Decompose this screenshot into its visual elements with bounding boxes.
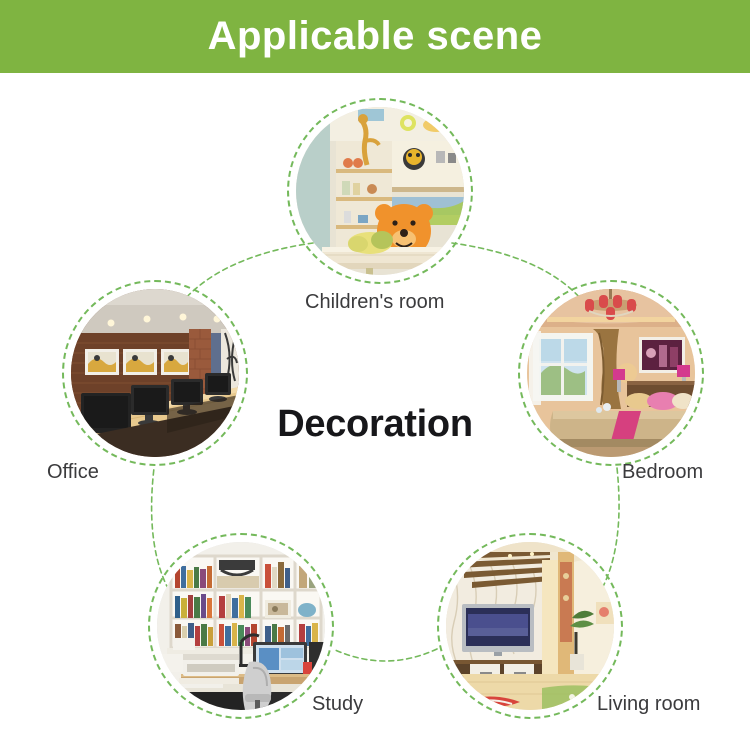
living-room-ring [437, 533, 623, 719]
node-label-children-room: Children's room [305, 291, 444, 314]
children-room-ring [287, 98, 473, 284]
node-office[interactable] [62, 280, 248, 466]
bedroom-ring [518, 280, 704, 466]
node-label-office: Office [47, 461, 99, 484]
node-label-study: Study [312, 693, 363, 716]
office-ring [62, 280, 248, 466]
node-bedroom[interactable] [518, 280, 704, 466]
node-label-living-room: Living room [597, 693, 700, 716]
page-header-banner: Applicable scene [0, 0, 750, 73]
node-children-room[interactable] [287, 98, 473, 284]
arc-living-study [333, 649, 437, 661]
node-label-bedroom: Bedroom [622, 461, 703, 484]
study-ring [148, 533, 334, 719]
node-living-room[interactable] [437, 533, 623, 719]
diagram-stage: Decoration [0, 73, 750, 750]
node-study[interactable] [148, 533, 334, 719]
page-title: Applicable scene [208, 16, 543, 56]
